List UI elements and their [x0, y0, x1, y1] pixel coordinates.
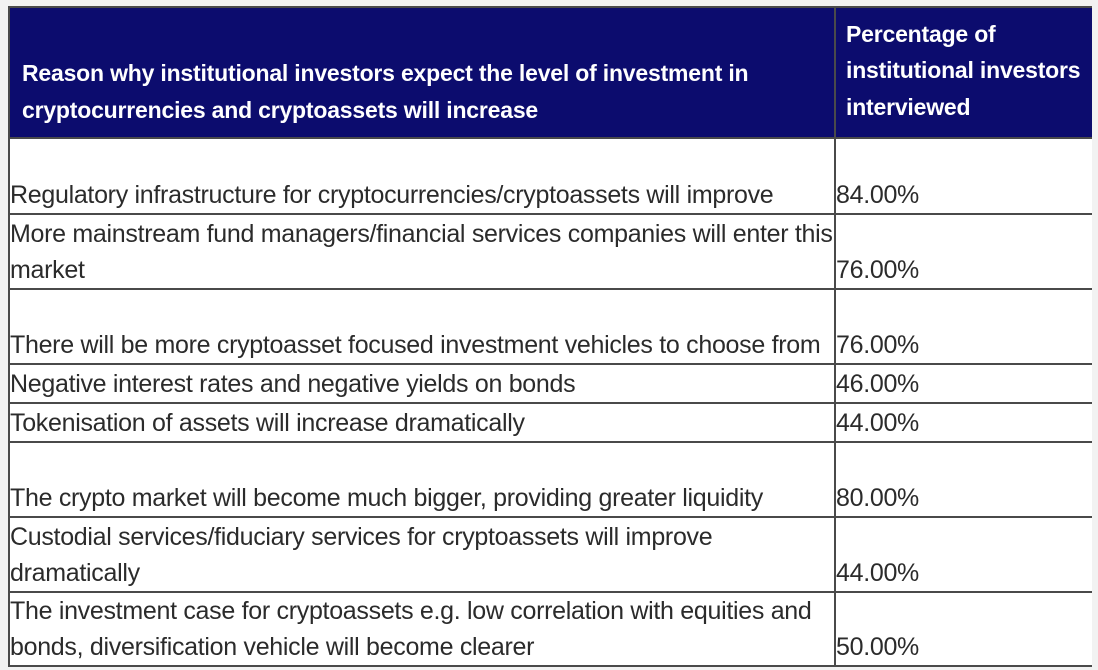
percentage-text: 44.00%: [836, 556, 1092, 592]
reason-text: Regulatory infrastructure for cryptocurr…: [10, 178, 834, 214]
table-row: Regulatory infrastructure for cryptocurr…: [9, 138, 1092, 214]
percentage-text: 76.00%: [836, 328, 1092, 364]
table-header: Reason why institutional investors expec…: [9, 7, 1092, 138]
table-row: The crypto market will become much bigge…: [9, 442, 1092, 517]
table-row: Custodial services/fiduciary services fo…: [9, 517, 1092, 592]
percentage-text: 76.00%: [836, 253, 1092, 289]
cell-reason: Negative interest rates and negative yie…: [9, 364, 835, 403]
cell-percentage: 76.00%: [835, 289, 1092, 364]
reason-text: The crypto market will become much bigge…: [10, 481, 834, 517]
column-header-reason-label: Reason why institutional investors expec…: [22, 60, 748, 123]
table-row: There will be more cryptoasset focused i…: [9, 289, 1092, 364]
table-row: The investment case for cryptoassets e.g…: [9, 592, 1092, 666]
column-header-percentage: Percentage of institutional investors in…: [835, 7, 1092, 138]
survey-table: Reason why institutional investors expec…: [8, 6, 1092, 667]
table-body: Regulatory infrastructure for cryptocurr…: [9, 138, 1092, 666]
cell-reason: More mainstream fund managers/financial …: [9, 214, 835, 289]
cell-percentage: 44.00%: [835, 403, 1092, 442]
table-row: More mainstream fund managers/financial …: [9, 214, 1092, 289]
cell-reason: Custodial services/fiduciary services fo…: [9, 517, 835, 592]
survey-table-container: Reason why institutional investors expec…: [8, 6, 1092, 667]
table-row: Tokenisation of assets will increase dra…: [9, 403, 1092, 442]
reason-text: Negative interest rates and negative yie…: [10, 367, 834, 403]
cell-reason: The investment case for cryptoassets e.g…: [9, 592, 835, 666]
cell-percentage: 76.00%: [835, 214, 1092, 289]
page-root: Reason why institutional investors expec…: [0, 0, 1098, 670]
cell-reason: The crypto market will become much bigge…: [9, 442, 835, 517]
percentage-text: 50.00%: [836, 630, 1092, 666]
percentage-text: 44.00%: [836, 406, 1092, 442]
column-header-reason: Reason why institutional investors expec…: [9, 7, 835, 138]
cell-percentage: 44.00%: [835, 517, 1092, 592]
table-row: Negative interest rates and negative yie…: [9, 364, 1092, 403]
column-header-percentage-label: Percentage of institutional investors in…: [846, 21, 1080, 120]
reason-text: The investment case for cryptoassets e.g…: [10, 594, 834, 665]
reason-text: There will be more cryptoasset focused i…: [10, 328, 834, 364]
reason-text: Custodial services/fiduciary services fo…: [10, 520, 834, 591]
percentage-text: 80.00%: [836, 481, 1092, 517]
cell-reason: There will be more cryptoasset focused i…: [9, 289, 835, 364]
cell-percentage: 80.00%: [835, 442, 1092, 517]
cell-reason: Tokenisation of assets will increase dra…: [9, 403, 835, 442]
cell-percentage: 84.00%: [835, 138, 1092, 214]
reason-text: Tokenisation of assets will increase dra…: [10, 406, 834, 442]
reason-text: More mainstream fund managers/financial …: [10, 217, 834, 288]
percentage-text: 46.00%: [836, 367, 1092, 403]
cell-reason: Regulatory infrastructure for cryptocurr…: [9, 138, 835, 214]
cell-percentage: 46.00%: [835, 364, 1092, 403]
cell-percentage: 50.00%: [835, 592, 1092, 666]
percentage-text: 84.00%: [836, 178, 1092, 214]
table-header-row: Reason why institutional investors expec…: [9, 7, 1092, 138]
